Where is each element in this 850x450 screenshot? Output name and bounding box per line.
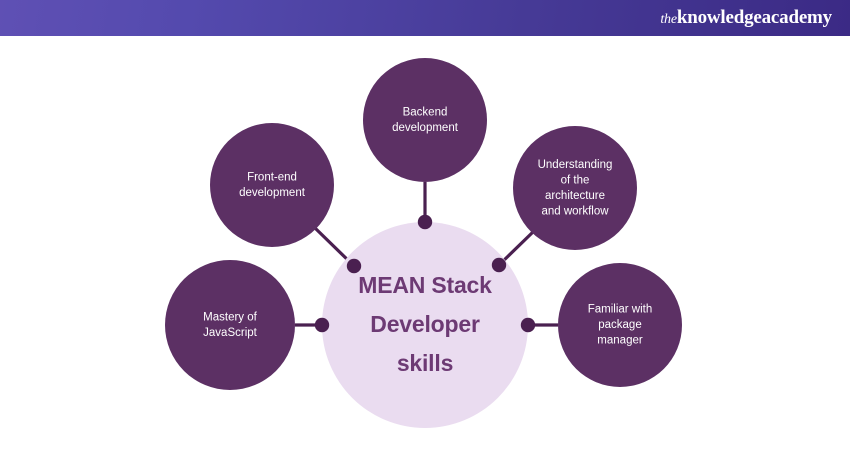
connector-dot-understanding-architecture-workflow	[492, 258, 506, 272]
node-front-end-development[interactable]: Front-enddevelopment	[210, 123, 334, 247]
screenshot-canvas: theknowledgeacademy MEAN StackDevelopers…	[0, 0, 850, 450]
node-backend-development[interactable]: Backenddevelopment	[363, 58, 487, 182]
connector-dot-familiar-with-package-manager	[521, 318, 535, 332]
connector-dot-mastery-of-javascript	[315, 318, 329, 332]
mean-stack-skills-diagram: MEAN StackDeveloperskills Backenddevelop…	[0, 36, 850, 450]
node-familiar-with-package-manager[interactable]: Familiar withpackagemanager	[558, 263, 682, 387]
brand-logo-main: knowledgeacademy	[677, 7, 832, 28]
center-node: MEAN StackDeveloperskills	[315, 215, 535, 428]
node-circle-backend-development	[363, 58, 487, 182]
node-understanding-architecture-workflow[interactable]: Understandingof thearchitectureand workf…	[513, 126, 637, 250]
node-circle-understanding-architecture-workflow	[513, 126, 637, 250]
header-bar: theknowledgeacademy	[0, 0, 850, 36]
node-circle-front-end-development	[210, 123, 334, 247]
connector-dot-front-end-development	[347, 259, 361, 273]
connector-dot-backend-development	[418, 215, 432, 229]
node-circle-mastery-of-javascript	[165, 260, 295, 390]
node-mastery-of-javascript[interactable]: Mastery ofJavaScript	[165, 260, 295, 390]
brand-logo-the: the	[660, 12, 677, 27]
brand-logo: theknowledgeacademy	[660, 7, 832, 31]
